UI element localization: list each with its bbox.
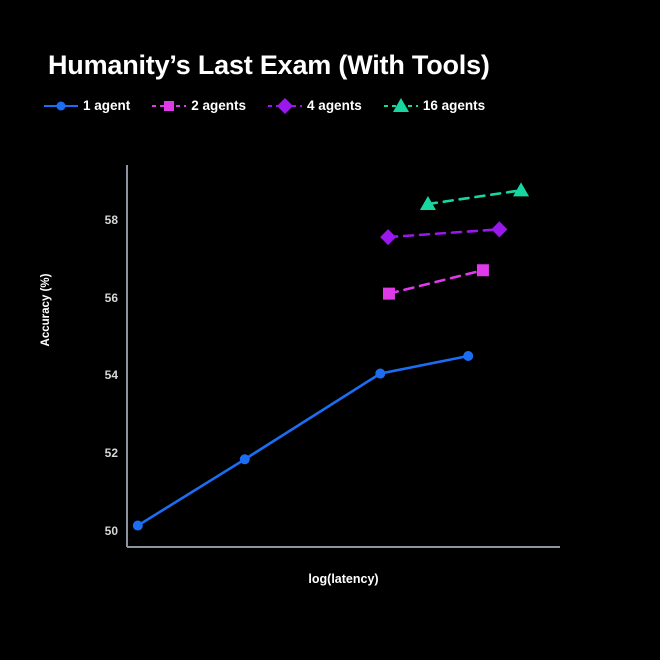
- y-axis-label: Accuracy (%): [40, 255, 52, 365]
- y-axis-ticks: 5052545658: [74, 0, 118, 660]
- series-line: [389, 270, 483, 293]
- y-tick-label: 52: [78, 447, 118, 459]
- chart-card: Humanity’s Last Exam (With Tools) 1 agen…: [0, 0, 660, 660]
- data-point-marker: [380, 229, 396, 245]
- data-point-marker: [463, 351, 473, 361]
- data-point-marker: [491, 221, 507, 237]
- y-tick-label: 58: [78, 214, 118, 226]
- data-point-marker: [477, 264, 489, 276]
- series-line: [388, 229, 499, 237]
- series-1-agent: [133, 351, 473, 531]
- series-16-agents: [420, 182, 529, 210]
- data-point-marker: [383, 288, 395, 300]
- y-tick-label: 50: [78, 525, 118, 537]
- data-point-marker: [513, 182, 529, 196]
- y-tick-label: 54: [78, 369, 118, 381]
- y-tick-label: 56: [78, 292, 118, 304]
- x-axis-label: log(latency): [127, 572, 560, 586]
- series-4-agents: [380, 221, 507, 245]
- series-line: [428, 190, 521, 204]
- series-2-agents: [383, 264, 489, 299]
- data-point-marker: [375, 369, 385, 379]
- data-point-marker: [240, 454, 250, 464]
- series-line: [138, 356, 468, 526]
- data-point-marker: [133, 521, 143, 531]
